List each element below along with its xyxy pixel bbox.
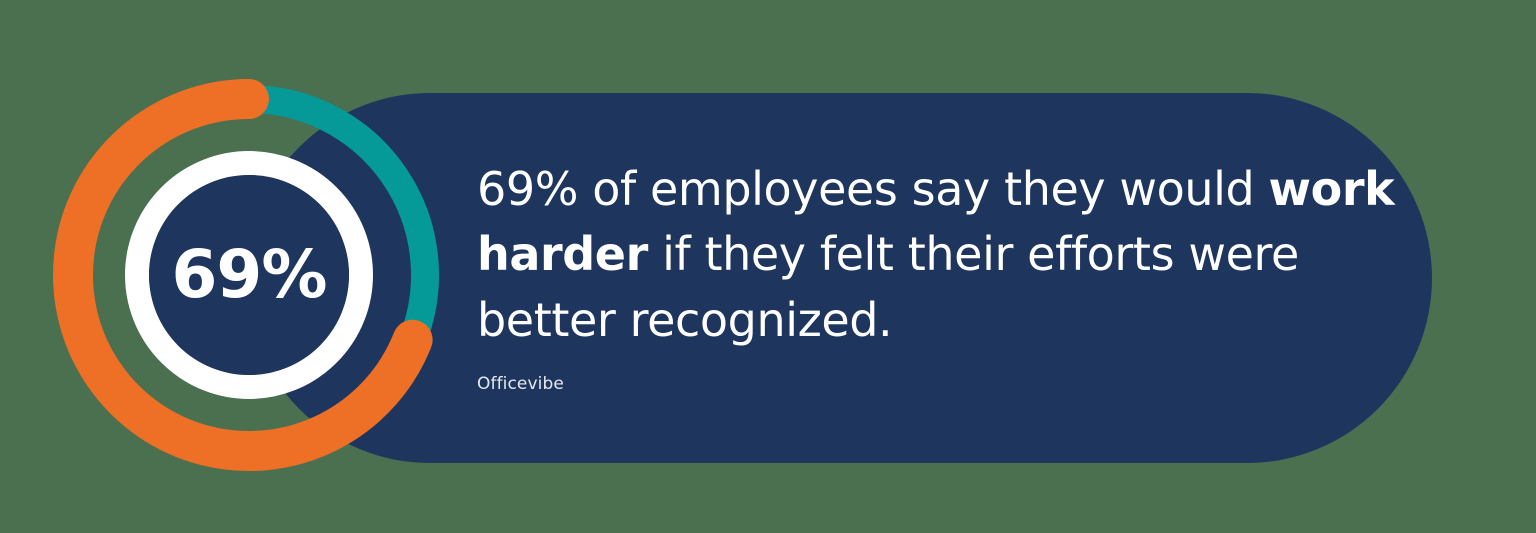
donut-chart: 69% — [59, 85, 439, 465]
infographic-card: 69% 69% of employees say they would work… — [0, 0, 1536, 533]
donut-chart-svg — [59, 85, 439, 465]
headline: 69% of employees say they would work har… — [477, 157, 1407, 353]
donut-center-disc — [149, 175, 349, 375]
source-attribution: Officevibe — [477, 374, 1407, 394]
headline-part-1: 69% of employees say they would — [477, 162, 1269, 216]
text-block: 69% of employees say they would work har… — [477, 157, 1407, 394]
